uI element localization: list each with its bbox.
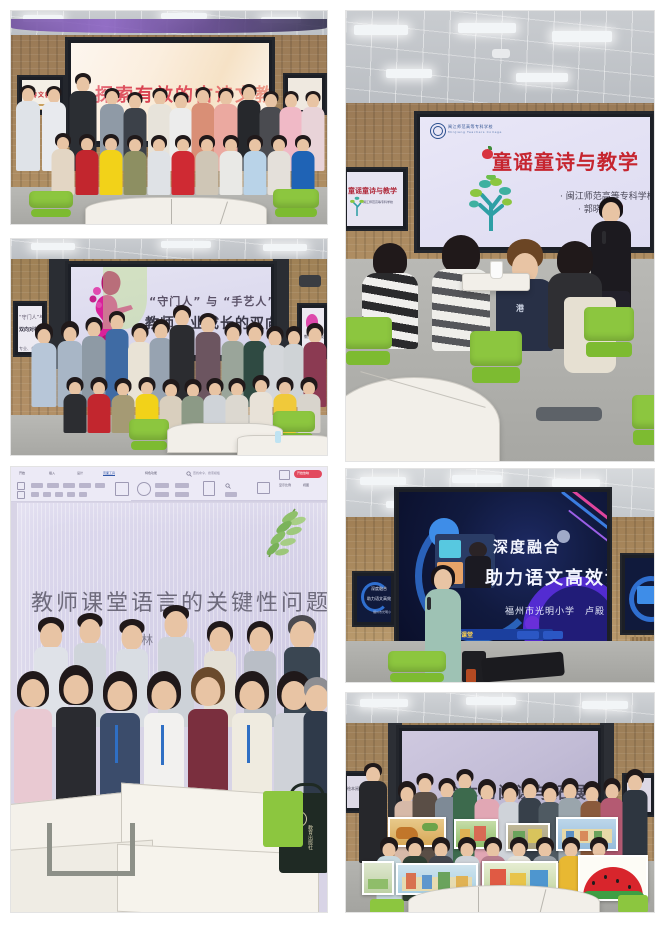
slide-line1: 深度融合 [493,536,561,557]
equipment-detail [466,669,476,682]
ribbon-tab-start[interactable]: 开始 [19,471,25,475]
start-presentation-label: 开始放映 [297,471,309,475]
toolbar-icon[interactable] [225,492,237,497]
side-screen-text2: 助力语文高效课堂 [367,596,391,602]
toolbar-icon[interactable] [95,483,105,488]
toolbar-icon[interactable] [115,482,129,496]
side-screen-text3: 福州市光明小学 [373,610,391,614]
chair [346,317,392,373]
toolbar-icon[interactable] [175,483,189,488]
toolbar-icon[interactable] [31,483,43,488]
slide-logo-subline: MinJiang Teachers College [448,130,502,134]
zoom-control[interactable]: 显示比例 [279,483,291,487]
side-screen-subtext: 闽江师范高等专科学校 [363,200,393,204]
search-icon-2[interactable] [225,483,231,489]
ribbon-tab-features[interactable]: 特色功能 [145,471,157,475]
side-screen: 童谣童诗与教学 闽江师范高等专科学校 [346,167,408,231]
page-icon[interactable] [203,481,215,496]
toolbar-icon[interactable] [17,491,25,499]
photo-group-picture-book-reading: 绘本的阅读与拓展活动 石文欣 绘本阅读与拓展活动 拓展 [345,692,655,913]
shape-icon[interactable] [137,482,151,496]
table [408,885,600,912]
chair [370,899,404,912]
toolbar-search-input[interactable]: 查找命令、搜索模板 [193,471,220,475]
toolbar-icon[interactable] [257,482,270,494]
chair [584,307,634,365]
search-icon[interactable] [186,471,192,477]
toolbar-icon[interactable] [175,492,189,497]
chair [129,419,169,455]
bag-text: 教育出版社 [307,825,314,850]
toolbar-icon[interactable] [63,483,75,488]
toolbar-icon[interactable] [17,482,25,490]
photo-lecture-nursery-rhymes: 闽江师范高等专科学校 MinJiang Teachers College 童谣童… [345,10,655,462]
chair [29,191,73,221]
slide-line1: “守门人” 与 “手艺人” [149,293,271,309]
toolbar-icon[interactable] [279,470,290,480]
chair [618,895,648,912]
toolbar-icon[interactable] [79,492,87,497]
poster-green-book [362,861,394,895]
ribbon-tab-page-tools[interactable]: 页面工具 [103,471,115,476]
side-screen-right [620,553,654,635]
chair [632,395,654,453]
view-control[interactable]: 视图 [303,483,309,487]
sweater-text: 港 [516,303,524,314]
slide-title: 童谣童诗与教学 [492,146,639,175]
toolbar-icon[interactable] [31,492,39,497]
photo-group-gatekeeper-craftsman: “守门人” 与 “手艺人” 教师专业成长的双向对标 “守门人”与 双向对标 专业… [10,238,328,456]
green-bag [263,791,303,847]
presentation-software-toolbar[interactable]: 开始 插入 设计 页面工具 特色功能 查找命令、搜索模板 开始放映 [11,467,327,502]
chair-frame [47,823,135,876]
slide-presenter: 福州市光明小学 卢殿 [505,604,605,617]
ribbon-tab-insert[interactable]: 插入 [49,471,55,475]
toolbar-icon[interactable] [47,483,59,488]
toolbar-icon[interactable] [155,492,169,497]
photo-group-classroom-language: 开始 插入 设计 页面工具 特色功能 查找命令、搜索模板 开始放映 [10,466,328,913]
table [85,197,267,224]
tree-icon [468,175,514,231]
slide-line2: 助力语文高效课堂 [485,564,607,590]
toolbar-icon[interactable] [43,492,51,497]
chair [388,651,446,682]
photo-collage: 探索有效的古诗文教学 古诗文教学 [0,0,665,925]
toolbar-icon[interactable] [67,492,75,497]
side-screen-text: 深度融合 [371,586,387,592]
leaf-branch-icon [251,507,307,565]
chair [470,331,522,391]
chair [273,189,319,221]
toolbar-icon[interactable] [79,483,91,488]
photo-lecture-deep-integration: 深度融合 助力语文高效课堂 福州市光明小学 卢殿 深度融合课堂 深度融合 助力语… [345,468,655,683]
side-screen-text: 童谣童诗与教学 [348,186,397,196]
toolbar-icon[interactable] [55,492,63,497]
ribbon-tab-design[interactable]: 设计 [77,471,83,475]
toolbar-icon[interactable] [155,483,169,488]
side-screen-left: 深度融合 助力语文高效课堂 福州市光明小学 [352,571,396,627]
photo-group-classical-poetry: 探索有效的古诗文教学 古诗文教学 [10,10,328,225]
